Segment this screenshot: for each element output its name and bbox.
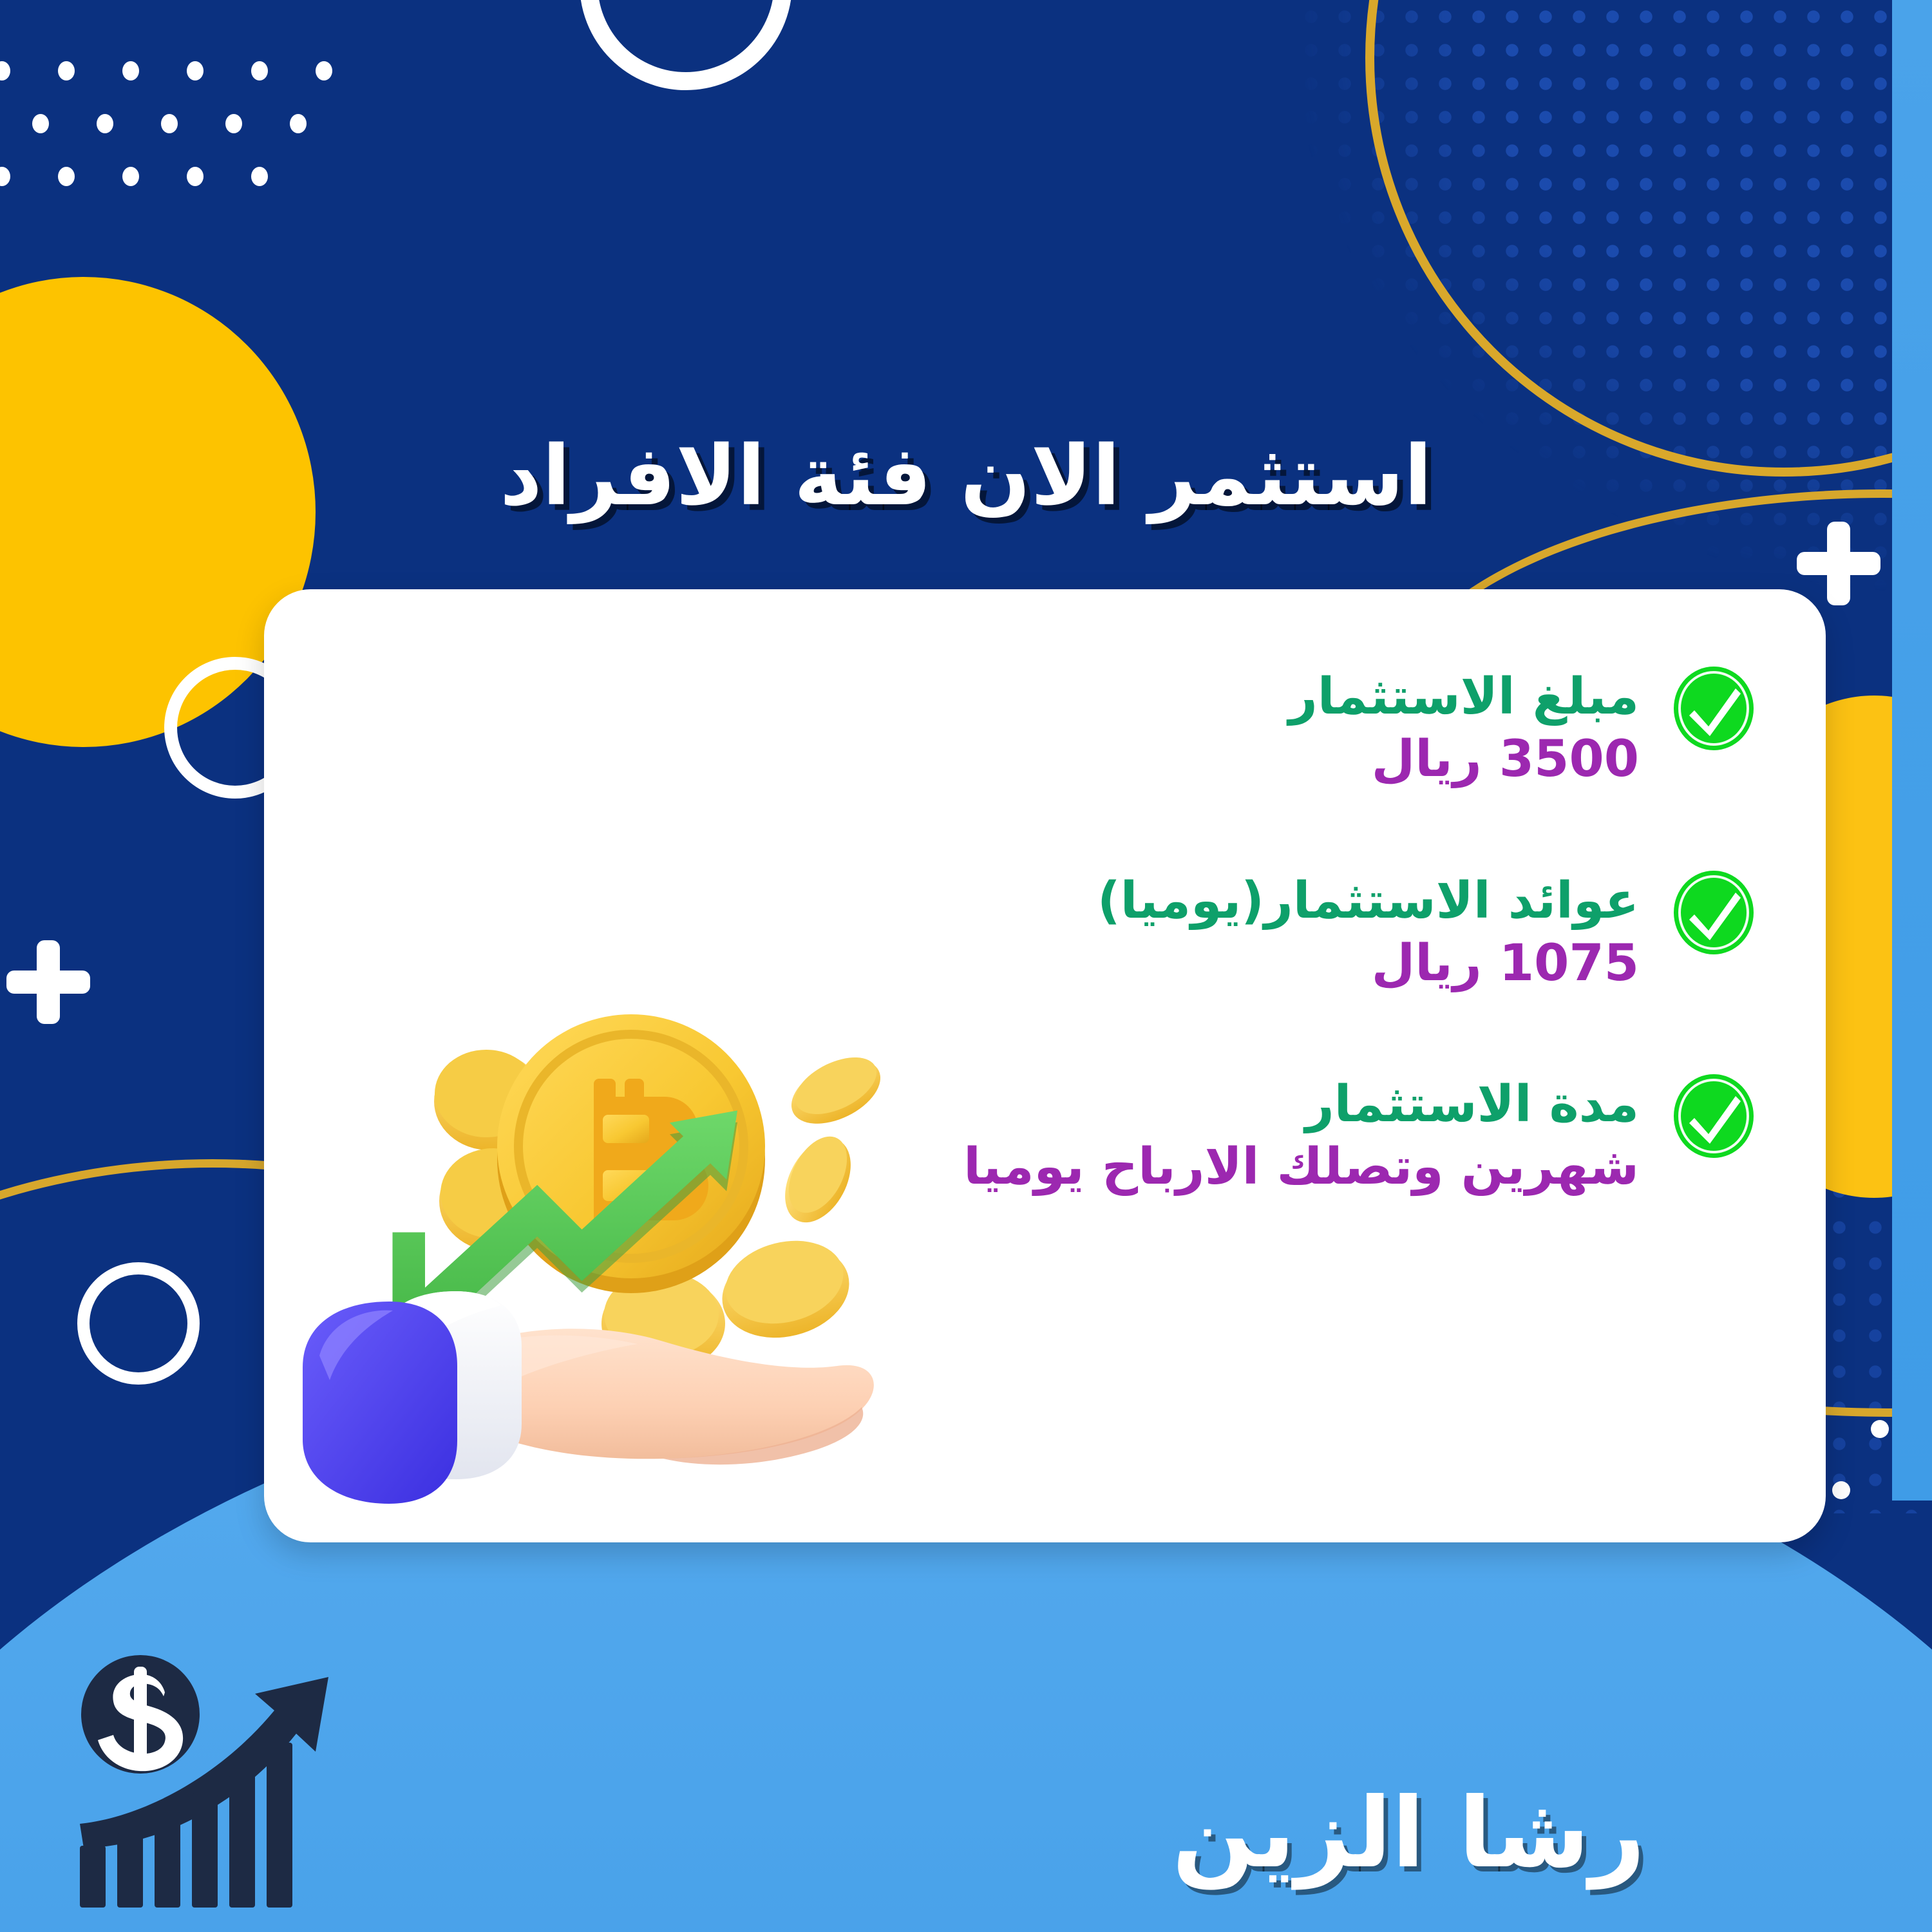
benefit-list: مبلغ الاستثمار 3500 ريال عوائد الاستثمار… xyxy=(873,589,1826,1542)
poster-canvas: استثمر الان فئة الافراد xyxy=(0,0,1932,1932)
right-blue-strip xyxy=(1892,0,1932,1501)
white-dot-grid-top-left xyxy=(0,61,335,209)
decor-dot-1 xyxy=(1871,1420,1889,1438)
list-item: مدة الاستثمار شهرين وتصلك الارباح يوميا xyxy=(873,1073,1755,1198)
decor-dot-2 xyxy=(1832,1481,1850,1499)
list-item-label: مبلغ الاستثمار xyxy=(873,669,1639,725)
offer-card: مبلغ الاستثمار 3500 ريال عوائد الاستثمار… xyxy=(264,589,1826,1542)
author-signature: رشا الزين xyxy=(1172,1777,1816,1889)
list-item: مبلغ الاستثمار 3500 ريال xyxy=(873,665,1755,791)
green-check-icon xyxy=(1672,1073,1755,1159)
dollar-coin-growth-chart-logo xyxy=(71,1655,348,1913)
open-hand xyxy=(464,1329,874,1464)
plus-icon-left xyxy=(6,940,90,1024)
list-item: عوائد الاستثمار(يوميا) 1075 ريال xyxy=(873,869,1755,995)
list-item-text: مبلغ الاستثمار 3500 ريال xyxy=(873,665,1639,791)
green-check-icon xyxy=(1672,665,1755,752)
list-item-value: شهرين وتصلك الارباح يوميا xyxy=(873,1137,1639,1198)
list-item-text: عوائد الاستثمار(يوميا) 1075 ريال xyxy=(873,869,1639,995)
blue-sleeve xyxy=(303,1302,457,1504)
page-title: استثمر الان فئة الافراد xyxy=(0,428,1932,524)
list-item-value: 1075 ريال xyxy=(873,933,1639,994)
green-check-icon xyxy=(1672,869,1755,956)
list-item-label: مدة الاستثمار xyxy=(873,1077,1639,1133)
list-item-label: عوائد الاستثمار(يوميا) xyxy=(873,873,1639,929)
list-item-value: 3500 ريال xyxy=(873,729,1639,790)
list-item-text: مدة الاستثمار شهرين وتصلك الارباح يوميا xyxy=(873,1073,1639,1198)
white-ring-lower-left xyxy=(77,1262,200,1385)
